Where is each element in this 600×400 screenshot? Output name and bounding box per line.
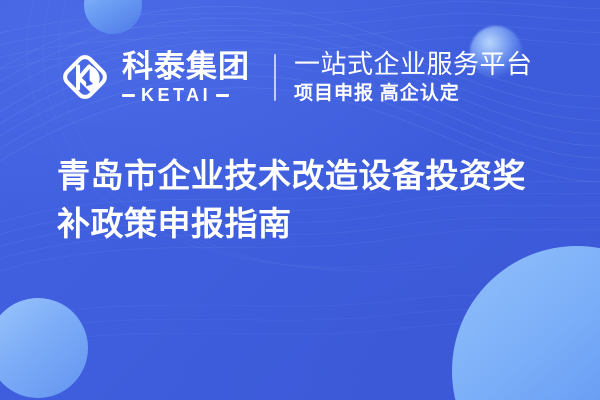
banner-header: 科泰集团 KETAI 一站式企业服务平台 项目申报 高企认定 xyxy=(56,44,533,110)
promo-banner: 科泰集团 KETAI 一站式企业服务平台 项目申报 高企认定 青岛市企业技术改造… xyxy=(0,0,600,400)
tagline-main: 一站式企业服务平台 xyxy=(294,50,533,79)
ketai-diamond-kd-logo-icon xyxy=(56,48,114,106)
logo-dash-left-icon xyxy=(122,94,135,97)
logo-brand-en: KETAI xyxy=(141,86,211,104)
tagline-sub: 项目申报 高企认定 xyxy=(294,83,533,105)
header-divider xyxy=(274,54,276,101)
page-title: 青岛市企业技术改造设备投资奖补政策申报指南 xyxy=(57,152,557,248)
logo-brand-en-row: KETAI xyxy=(122,86,250,104)
logo-brand-cn: 科泰集团 xyxy=(122,50,250,84)
logo-dash-right-icon xyxy=(216,94,229,97)
header-tagline: 一站式企业服务平台 项目申报 高企认定 xyxy=(294,50,533,105)
logo-wordmark: 科泰集团 KETAI xyxy=(122,50,250,104)
